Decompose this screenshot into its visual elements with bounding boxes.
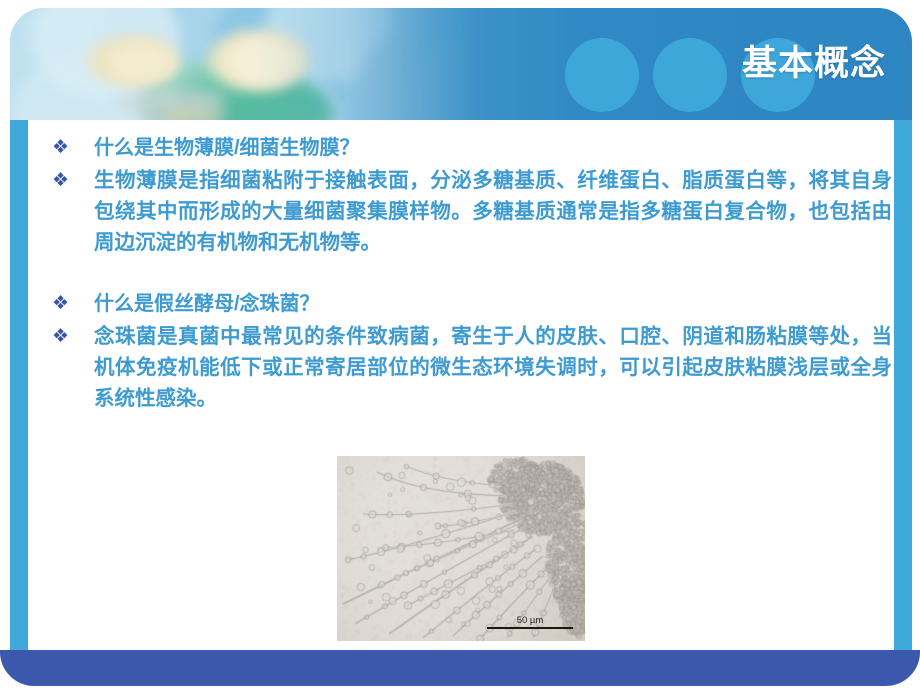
candida-micrograph: 50 µm [337,456,585,641]
bottom-accent-bar [0,650,920,686]
scale-bar: 50 µm [487,615,573,630]
scale-bar-line [487,627,573,630]
bullet-diamond-icon: ❖ [52,134,76,161]
bullet-paragraph-biofilm-text: 生物薄膜是指细菌粘附于接触表面，分泌多糖基质、纤维蛋白、脂质蛋白等，将其自身包绕… [94,165,892,258]
decorative-circle-1 [565,38,639,112]
bullet-heading-candida: ❖ 什么是假丝酵母/念珠菌？ [30,290,892,319]
bullet-heading-biofilm-text: 什么是生物薄膜/细菌生物膜？ [94,134,360,163]
slide-header-banner: 基本概念 [10,8,912,120]
decorative-circle-2 [653,38,727,112]
micrograph-canvas [337,456,585,641]
bullet-diamond-icon: ❖ [52,321,76,352]
bullet-heading-biofilm: ❖ 什么是生物薄膜/细菌生物膜？ [30,134,892,163]
right-accent-bar [894,120,912,654]
bullet-heading-candida-text: 什么是假丝酵母/念珠菌？ [94,290,320,319]
bullet-diamond-icon: ❖ [52,290,76,317]
scale-bar-label: 50 µm [487,615,573,626]
bullet-paragraph-candida: ❖ 念珠菌是真菌中最常见的条件致病菌，寄生于人的皮肤、口腔、阴道和肠粘膜等处，当… [30,321,892,414]
surgery-photo [10,8,480,120]
page-title: 基本概念 [742,42,886,86]
bullet-paragraph-biofilm: ❖ 生物薄膜是指细菌粘附于接触表面，分泌多糖基质、纤维蛋白、脂质蛋白等，将其自身… [30,165,892,258]
left-accent-bar [10,120,28,654]
bullet-paragraph-candida-text: 念珠菌是真菌中最常见的条件致病菌，寄生于人的皮肤、口腔、阴道和肠粘膜等处，当机体… [94,321,892,414]
presentation-slide: 基本概念 ❖ 什么是生物薄膜/细菌生物膜？ ❖ 生物薄膜是指细菌粘附于接触表面，… [0,0,920,690]
section-spacer [30,258,892,290]
bullet-diamond-icon: ❖ [52,165,76,196]
